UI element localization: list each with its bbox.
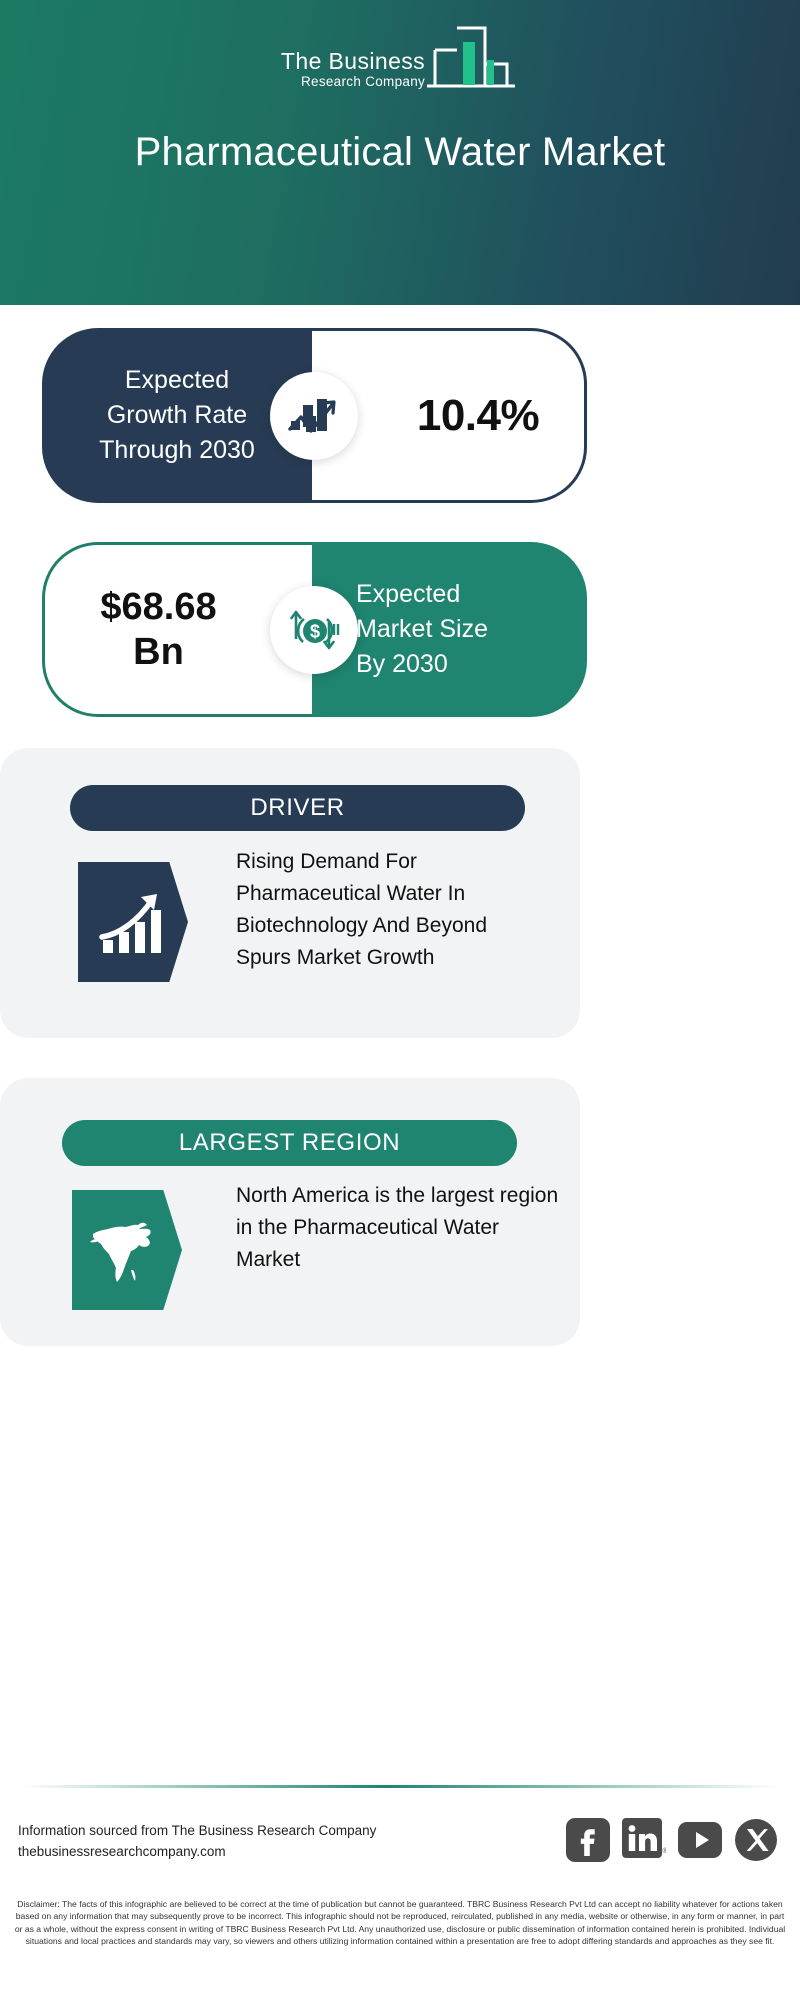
x-twitter-icon[interactable] xyxy=(734,1818,778,1862)
footer-divider xyxy=(20,1785,780,1788)
header-banner: The Business Research Company Pharmaceut… xyxy=(0,0,800,305)
market-size-value-line-1: $68.68 xyxy=(100,585,216,630)
svg-text:®: ® xyxy=(663,1847,667,1855)
rising-bar-chart-icon xyxy=(97,886,169,958)
market-size-label-line-2: Market Size xyxy=(356,612,587,647)
driver-pill: DRIVER xyxy=(70,785,525,831)
disclaimer-text: Disclaimer: The facts of this infographi… xyxy=(14,1898,786,1948)
stat-card-market-size: $68.68 Bn Expected Market Size By 2030 $ xyxy=(42,542,587,717)
market-size-label-line-1: Expected xyxy=(356,577,587,612)
logo-line-1: The Business xyxy=(281,49,425,74)
largest-region-text: North America is the largest region in t… xyxy=(236,1180,566,1276)
market-size-value: $68.68 Bn xyxy=(100,585,256,675)
growth-chart-arrow-icon xyxy=(286,388,342,444)
source-attribution: Information sourced from The Business Re… xyxy=(18,1820,518,1862)
facebook-icon[interactable] xyxy=(566,1818,610,1862)
growth-rate-value: 10.4% xyxy=(357,391,539,441)
stat-card-growth-rate-label: Expected Growth Rate Through 2030 xyxy=(99,363,255,468)
north-america-map-icon xyxy=(87,1210,167,1290)
largest-region-pill: LARGEST REGION xyxy=(62,1120,517,1166)
driver-text: Rising Demand For Pharmaceutical Water I… xyxy=(236,846,536,974)
growth-rate-icon-badge xyxy=(270,372,358,460)
linkedin-icon[interactable]: ® xyxy=(622,1818,666,1862)
largest-region-icon-hex xyxy=(72,1190,182,1310)
page-title: Pharmaceutical Water Market xyxy=(0,130,800,175)
logo-line-2: Research Company xyxy=(281,74,425,90)
market-size-icon-badge: $ xyxy=(270,586,358,674)
source-line-1: Information sourced from The Business Re… xyxy=(18,1820,518,1841)
social-links: ® xyxy=(566,1818,778,1862)
growth-label-line-3: Through 2030 xyxy=(99,433,255,468)
bar-chart-logo-mark xyxy=(423,22,519,94)
youtube-icon[interactable] xyxy=(678,1818,722,1862)
growth-label-line-2: Growth Rate xyxy=(99,398,255,433)
svg-text:$: $ xyxy=(310,622,320,642)
stat-card-growth-rate: Expected Growth Rate Through 2030 10.4% xyxy=(42,328,587,503)
market-size-label-line-3: By 2030 xyxy=(356,647,587,682)
company-logo: The Business Research Company xyxy=(0,22,800,94)
driver-icon-hex xyxy=(78,862,188,982)
growth-label-line-1: Expected xyxy=(99,363,255,398)
source-website[interactable]: thebusinessresearchcompany.com xyxy=(18,1841,518,1862)
dollar-circular-arrows-icon: $ xyxy=(285,601,343,659)
market-size-value-line-2: Bn xyxy=(100,630,216,675)
